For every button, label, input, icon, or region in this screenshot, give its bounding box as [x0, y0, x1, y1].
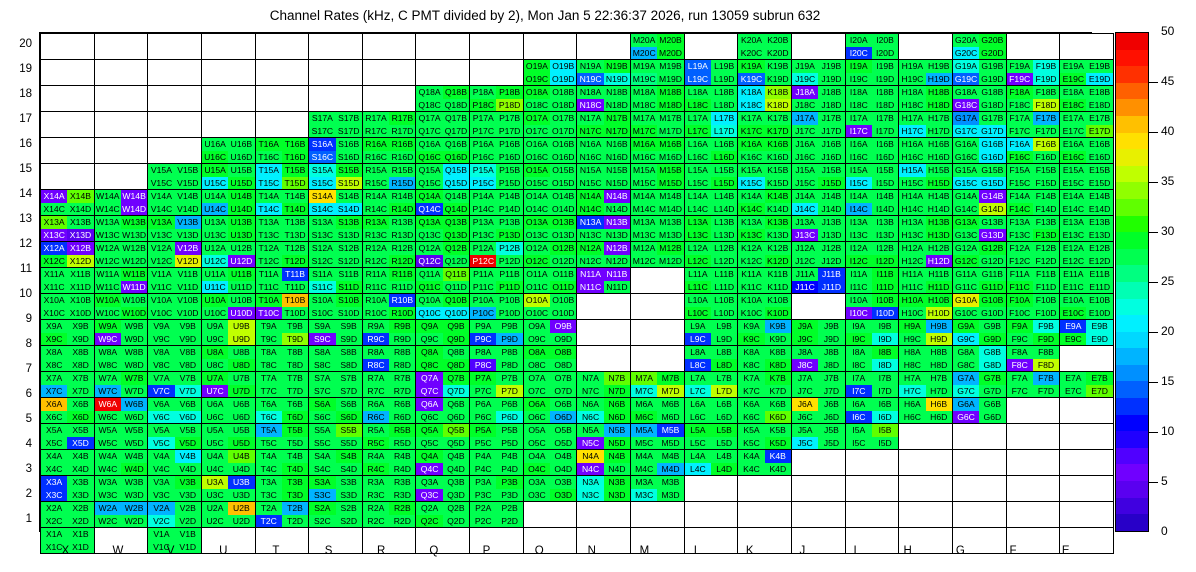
channel-O19A[interactable]: O19A: [524, 60, 550, 73]
grid-cell-H10[interactable]: H10AH10BH10CH10D: [899, 294, 953, 320]
channel-V14C[interactable]: V14C: [148, 203, 174, 216]
channel-P8D[interactable]: P8D: [496, 359, 522, 372]
grid-cell-R18[interactable]: [362, 86, 416, 112]
channel-Q4D[interactable]: Q4D: [443, 463, 469, 476]
channel-W7D[interactable]: W7D: [121, 385, 147, 398]
channel-E10D[interactable]: E10D: [1086, 307, 1112, 320]
channel-L8C[interactable]: L8C: [685, 359, 711, 372]
grid-cell-K9[interactable]: K9AK9BK9CK9D: [738, 320, 792, 346]
grid-cell-W19[interactable]: [94, 60, 148, 86]
channel-W3B[interactable]: W3B: [121, 476, 147, 489]
channel-W4B[interactable]: W4B: [121, 450, 147, 463]
channel-F14C[interactable]: F14C: [1007, 203, 1033, 216]
channel-E7D[interactable]: E7D: [1086, 385, 1112, 398]
channel-X13C[interactable]: X13C: [41, 229, 67, 242]
channel-T6C[interactable]: T6C: [256, 411, 282, 424]
grid-cell-H19[interactable]: H19AH19BH19CH19D: [899, 60, 953, 86]
channel-G8D[interactable]: G8D: [979, 359, 1005, 372]
channel-I19D[interactable]: I19D: [872, 73, 898, 86]
grid-cell-Q14[interactable]: Q14AQ14BQ14CQ14D: [416, 190, 470, 216]
grid-cell-H4[interactable]: [899, 450, 953, 476]
channel-N13C[interactable]: N13C: [577, 229, 603, 242]
channel-M6B[interactable]: M6B: [657, 398, 683, 411]
channel-X14B[interactable]: X14B: [67, 190, 93, 203]
channel-U16B[interactable]: U16B: [228, 138, 254, 151]
channel-N18D[interactable]: N18D: [604, 99, 630, 112]
channel-L4B[interactable]: L4B: [711, 450, 737, 463]
grid-cell-V9[interactable]: V9AV9BV9CV9D: [148, 320, 202, 346]
channel-X3C[interactable]: X3C: [41, 489, 67, 502]
channel-P16B[interactable]: P16B: [496, 138, 522, 151]
channel-G12C[interactable]: G12C: [953, 255, 979, 268]
channel-S4B[interactable]: S4B: [336, 450, 362, 463]
channel-U6C[interactable]: U6C: [202, 411, 228, 424]
channel-X5A[interactable]: X5A: [41, 424, 67, 437]
grid-cell-E7[interactable]: E7AE7BE7CE7D: [1060, 372, 1114, 398]
grid-cell-R8[interactable]: R8AR8BR8CR8D: [362, 346, 416, 372]
channel-T3A[interactable]: T3A: [256, 476, 282, 489]
channel-U10C[interactable]: U10C: [202, 307, 228, 320]
channel-Q7D[interactable]: Q7D: [443, 385, 469, 398]
channel-R3D[interactable]: R3D: [389, 489, 415, 502]
grid-cell-K5[interactable]: K5AK5BK5CK5D: [738, 424, 792, 450]
grid-cell-K16[interactable]: K16AK16BK16CK16D: [738, 138, 792, 164]
channel-X8B[interactable]: X8B: [67, 346, 93, 359]
grid-cell-X11[interactable]: X11AX11BX11CX11D: [41, 268, 95, 294]
channel-T10A[interactable]: T10A: [256, 294, 282, 307]
channel-J6D[interactable]: J6D: [818, 411, 844, 424]
channel-F9C[interactable]: F9C: [1007, 333, 1033, 346]
grid-cell-I16[interactable]: I16AI16BI16CI16D: [845, 138, 899, 164]
channel-T16B[interactable]: T16B: [282, 138, 308, 151]
channel-M14D[interactable]: M14D: [657, 203, 683, 216]
channel-N3A[interactable]: N3A: [577, 476, 603, 489]
channel-O12A[interactable]: O12A: [524, 242, 550, 255]
channel-W4D[interactable]: W4D: [121, 463, 147, 476]
channel-X3B[interactable]: X3B: [67, 476, 93, 489]
grid-cell-R2[interactable]: R2AR2BR2CR2D: [362, 502, 416, 528]
grid-cell-F18[interactable]: F18AF18BF18CF18D: [1006, 86, 1060, 112]
channel-M3C[interactable]: M3C: [631, 489, 657, 502]
channel-I8C[interactable]: I8C: [846, 359, 872, 372]
channel-J5D[interactable]: J5D: [818, 437, 844, 450]
channel-H18A[interactable]: H18A: [899, 86, 925, 99]
grid-cell-G14[interactable]: G14AG14BG14CG14D: [952, 190, 1006, 216]
grid-cell-S16[interactable]: S16AS16BS16CS16D: [309, 138, 363, 164]
grid-cell-N8[interactable]: [577, 346, 631, 372]
grid-cell-L7[interactable]: L7AL7BL7CL7D: [684, 372, 738, 398]
channel-P13B[interactable]: P13B: [496, 216, 522, 229]
grid-cell-O16[interactable]: O16AO16BO16CO16D: [523, 138, 577, 164]
channel-H10D[interactable]: H10D: [926, 307, 952, 320]
channel-R5A[interactable]: R5A: [363, 424, 389, 437]
channel-L11B[interactable]: L11B: [711, 268, 737, 281]
channel-K13C[interactable]: K13C: [738, 229, 764, 242]
channel-P15C[interactable]: P15C: [470, 177, 496, 190]
channel-S14A[interactable]: S14A: [309, 190, 335, 203]
channel-R16A[interactable]: R16A: [363, 138, 389, 151]
grid-cell-M15[interactable]: M15AM15BM15CM15D: [631, 164, 685, 190]
grid-cell-V10[interactable]: V10AV10BV10CV10D: [148, 294, 202, 320]
channel-M18C[interactable]: M18C: [631, 99, 657, 112]
channel-P12D[interactable]: P12D: [496, 255, 522, 268]
channel-E19D[interactable]: E19D: [1086, 73, 1112, 86]
grid-cell-E13[interactable]: E13AE13BE13CE13D: [1060, 216, 1114, 242]
grid-cell-W15[interactable]: [94, 164, 148, 190]
channel-U6D[interactable]: U6D: [228, 411, 254, 424]
channel-R4D[interactable]: R4D: [389, 463, 415, 476]
grid-cell-Q7[interactable]: Q7AQ7BQ7CQ7D: [416, 372, 470, 398]
channel-V9B[interactable]: V9B: [175, 320, 201, 333]
grid-cell-S7[interactable]: S7AS7BS7CS7D: [309, 372, 363, 398]
channel-P8C[interactable]: P8C: [470, 359, 496, 372]
channel-N11A[interactable]: N11A: [577, 268, 603, 281]
grid-cell-W14[interactable]: W14AW14BW14CW14D: [94, 190, 148, 216]
channel-N7A[interactable]: N7A: [577, 372, 603, 385]
channel-K6B[interactable]: K6B: [765, 398, 791, 411]
channel-G18A[interactable]: G18A: [953, 86, 979, 99]
channel-G18C[interactable]: G18C: [953, 99, 979, 112]
channel-I5D[interactable]: I5D: [872, 437, 898, 450]
channel-S5D[interactable]: S5D: [336, 437, 362, 450]
grid-cell-T2[interactable]: T2AT2BT2CT2D: [255, 502, 309, 528]
channel-W10D[interactable]: W10D: [121, 307, 147, 320]
grid-cell-Q17[interactable]: Q17AQ17BQ17CQ17D: [416, 112, 470, 138]
grid-cell-N20[interactable]: [577, 34, 631, 60]
grid-cell-S4[interactable]: S4AS4BS4CS4D: [309, 450, 363, 476]
grid-cell-N13[interactable]: N13AN13BN13CN13D: [577, 216, 631, 242]
grid-cell-S19[interactable]: [309, 60, 363, 86]
channel-H11B[interactable]: H11B: [926, 268, 952, 281]
channel-S12C[interactable]: S12C: [309, 255, 335, 268]
channel-N12C[interactable]: N12C: [577, 255, 603, 268]
channel-T16C[interactable]: T16C: [256, 151, 282, 164]
grid-cell-U11[interactable]: U11AU11BU11CU11D: [201, 268, 255, 294]
grid-cell-E12[interactable]: E12AE12BE12CE12D: [1060, 242, 1114, 268]
channel-R9A[interactable]: R9A: [363, 320, 389, 333]
channel-G7D[interactable]: G7D: [979, 385, 1005, 398]
channel-X10D[interactable]: X10D: [67, 307, 93, 320]
channel-N5B[interactable]: N5B: [604, 424, 630, 437]
channel-H6D[interactable]: H6D: [926, 411, 952, 424]
channel-J18D[interactable]: J18D: [818, 99, 844, 112]
channel-T15A[interactable]: T15A: [256, 164, 282, 177]
channel-M13B[interactable]: M13B: [657, 216, 683, 229]
grid-cell-X3[interactable]: X3AX3BX3CX3D: [41, 476, 95, 502]
channel-K19A[interactable]: K19A: [738, 60, 764, 73]
grid-cell-H11[interactable]: H11AH11BH11CH11D: [899, 268, 953, 294]
channel-T6A[interactable]: T6A: [256, 398, 282, 411]
channel-H12A[interactable]: H12A: [899, 242, 925, 255]
grid-cell-Q6[interactable]: Q6AQ6BQ6CQ6D: [416, 398, 470, 424]
channel-F11A[interactable]: F11A: [1007, 268, 1033, 281]
grid-cell-T19[interactable]: [255, 60, 309, 86]
channel-H6B[interactable]: H6B: [926, 398, 952, 411]
channel-R8B[interactable]: R8B: [389, 346, 415, 359]
grid-cell-K3[interactable]: [738, 476, 792, 502]
grid-cell-N12[interactable]: N12AN12BN12CN12D: [577, 242, 631, 268]
channel-T11A[interactable]: T11A: [256, 268, 282, 281]
channel-P7D[interactable]: P7D: [496, 385, 522, 398]
channel-R17D[interactable]: R17D: [389, 125, 415, 138]
grid-cell-E16[interactable]: E16AE16BE16CE16D: [1060, 138, 1114, 164]
channel-H13B[interactable]: H13B: [926, 216, 952, 229]
channel-R4A[interactable]: R4A: [363, 450, 389, 463]
channel-U14B[interactable]: U14B: [228, 190, 254, 203]
grid-cell-G15[interactable]: G15AG15BG15CG15D: [952, 164, 1006, 190]
channel-K10B[interactable]: K10B: [765, 294, 791, 307]
grid-cell-Q9[interactable]: Q9AQ9BQ9CQ9D: [416, 320, 470, 346]
channel-G6B[interactable]: G6B: [979, 398, 1005, 411]
grid-cell-F17[interactable]: F17AF17BF17CF17D: [1006, 112, 1060, 138]
channel-E12C[interactable]: E12C: [1060, 255, 1086, 268]
channel-F11D[interactable]: F11D: [1033, 281, 1059, 294]
channel-G19D[interactable]: G19D: [979, 73, 1005, 86]
channel-L14C[interactable]: L14C: [685, 203, 711, 216]
channel-W10B[interactable]: W10B: [121, 294, 147, 307]
channel-W6B[interactable]: W6B: [121, 398, 147, 411]
grid-cell-W11[interactable]: W11AW11BW11CW11D: [94, 268, 148, 294]
channel-G10C[interactable]: G10C: [953, 307, 979, 320]
channel-K7A[interactable]: K7A: [738, 372, 764, 385]
channel-N6D[interactable]: N6D: [604, 411, 630, 424]
channel-L4A[interactable]: L4A: [685, 450, 711, 463]
grid-cell-G12[interactable]: G12AG12BG12CG12D: [952, 242, 1006, 268]
channel-X5C[interactable]: X5C: [41, 437, 67, 450]
channel-S2A[interactable]: S2A: [309, 502, 335, 515]
channel-X2B[interactable]: X2B: [67, 502, 93, 515]
channel-F14D[interactable]: F14D: [1033, 203, 1059, 216]
channel-G12B[interactable]: G12B: [979, 242, 1005, 255]
grid-cell-F11[interactable]: F11AF11BF11CF11D: [1006, 268, 1060, 294]
channel-G15C[interactable]: G15C: [953, 177, 979, 190]
channel-V13A[interactable]: V13A: [148, 216, 174, 229]
channel-S13C[interactable]: S13C: [309, 229, 335, 242]
channel-N19A[interactable]: N19A: [577, 60, 603, 73]
channel-P13C[interactable]: P13C: [470, 229, 496, 242]
channel-K14B[interactable]: K14B: [765, 190, 791, 203]
channel-S9C[interactable]: S9C: [309, 333, 335, 346]
channel-P13A[interactable]: P13A: [470, 216, 496, 229]
channel-I10A[interactable]: I10A: [846, 294, 872, 307]
channel-G17A[interactable]: G17A: [953, 112, 979, 125]
channel-Q2A[interactable]: Q2A: [416, 502, 442, 515]
channel-Q2C[interactable]: Q2C: [416, 515, 442, 528]
channel-T11D[interactable]: T11D: [282, 281, 308, 294]
channel-O11A[interactable]: O11A: [524, 268, 550, 281]
grid-cell-G4[interactable]: [952, 450, 1006, 476]
channel-E17D[interactable]: E17D: [1086, 125, 1112, 138]
grid-cell-L17[interactable]: L17AL17BL17CL17D: [684, 112, 738, 138]
channel-H15C[interactable]: H15C: [899, 177, 925, 190]
grid-cell-J13[interactable]: J13AJ13BJ13CJ13D: [791, 216, 845, 242]
channel-E19A[interactable]: E19A: [1060, 60, 1086, 73]
channel-H16D[interactable]: H16D: [926, 151, 952, 164]
channel-N6C[interactable]: N6C: [577, 411, 603, 424]
grid-cell-I7[interactable]: I7AI7BI7CI7D: [845, 372, 899, 398]
channel-N13A[interactable]: N13A: [577, 216, 603, 229]
channel-T14B[interactable]: T14B: [282, 190, 308, 203]
grid-cell-P16[interactable]: P16AP16BP16CP16D: [470, 138, 524, 164]
channel-U12C[interactable]: U12C: [202, 255, 228, 268]
channel-I18B[interactable]: I18B: [872, 86, 898, 99]
channel-L9B[interactable]: L9B: [711, 320, 737, 333]
channel-J17B[interactable]: J17B: [818, 112, 844, 125]
channel-V2C[interactable]: V2C: [148, 515, 174, 528]
channel-P4A[interactable]: P4A: [470, 450, 496, 463]
channel-M13A[interactable]: M13A: [631, 216, 657, 229]
channel-S13A[interactable]: S13A: [309, 216, 335, 229]
channel-L11D[interactable]: L11D: [711, 281, 737, 294]
channel-X5D[interactable]: X5D: [67, 437, 93, 450]
channel-I20B[interactable]: I20B: [872, 34, 898, 47]
channel-T5B[interactable]: T5B: [282, 424, 308, 437]
channel-X8A[interactable]: X8A: [41, 346, 67, 359]
grid-cell-L5[interactable]: L5AL5BL5CL5D: [684, 424, 738, 450]
grid-cell-P12[interactable]: P12AP12BP12CP12D: [470, 242, 524, 268]
channel-R6D[interactable]: R6D: [389, 411, 415, 424]
channel-G18B[interactable]: G18B: [979, 86, 1005, 99]
channel-W8B[interactable]: W8B: [121, 346, 147, 359]
channel-H8B[interactable]: H8B: [926, 346, 952, 359]
channel-S4A[interactable]: S4A: [309, 450, 335, 463]
channel-P15A[interactable]: P15A: [470, 164, 496, 177]
grid-cell-S8[interactable]: S8AS8BS8CS8D: [309, 346, 363, 372]
channel-T6D[interactable]: T6D: [282, 411, 308, 424]
channel-R5B[interactable]: R5B: [389, 424, 415, 437]
channel-V7B[interactable]: V7B: [175, 372, 201, 385]
grid-cell-T16[interactable]: T16AT16BT16CT16D: [255, 138, 309, 164]
grid-cell-T6[interactable]: T6AT6BT6CT6D: [255, 398, 309, 424]
channel-V7D[interactable]: V7D: [175, 385, 201, 398]
grid-cell-K8[interactable]: K8AK8BK8CK8D: [738, 346, 792, 372]
channel-P16D[interactable]: P16D: [496, 151, 522, 164]
channel-O7D[interactable]: O7D: [550, 385, 576, 398]
channel-R10A[interactable]: R10A: [363, 294, 389, 307]
channel-O7B[interactable]: O7B: [550, 372, 576, 385]
grid-cell-N17[interactable]: N17AN17BN17CN17D: [577, 112, 631, 138]
channel-H18C[interactable]: H18C: [899, 99, 925, 112]
channel-N11C[interactable]: N11C: [577, 281, 603, 294]
channel-Q5D[interactable]: Q5D: [443, 437, 469, 450]
grid-cell-X16[interactable]: [41, 138, 95, 164]
channel-I17B[interactable]: I17B: [872, 112, 898, 125]
channel-S3C[interactable]: S3C: [309, 489, 335, 502]
channel-K19C[interactable]: K19C: [738, 73, 764, 86]
channel-M3B[interactable]: M3B: [657, 476, 683, 489]
channel-L7C[interactable]: L7C: [685, 385, 711, 398]
grid-cell-T20[interactable]: [255, 34, 309, 60]
channel-W14C[interactable]: W14C: [95, 203, 121, 216]
channel-U14A[interactable]: U14A: [202, 190, 228, 203]
channel-J5B[interactable]: J5B: [818, 424, 844, 437]
grid-cell-L12[interactable]: L12AL12BL12CL12D: [684, 242, 738, 268]
channel-S9B[interactable]: S9B: [336, 320, 362, 333]
channel-H8D[interactable]: H8D: [926, 359, 952, 372]
channel-K8C[interactable]: K8C: [738, 359, 764, 372]
grid-cell-P14[interactable]: P14AP14BP14CP14D: [470, 190, 524, 216]
channel-T8A[interactable]: T8A: [256, 346, 282, 359]
grid-cell-L9[interactable]: L9AL9BL9CL9D: [684, 320, 738, 346]
channel-U9B[interactable]: U9B: [228, 320, 254, 333]
channel-U4C[interactable]: U4C: [202, 463, 228, 476]
grid-cell-P11[interactable]: P11AP11BP11CP11D: [470, 268, 524, 294]
channel-K13A[interactable]: K13A: [738, 216, 764, 229]
channel-K4A[interactable]: K4A: [738, 450, 764, 463]
channel-O6B[interactable]: O6B: [550, 398, 576, 411]
channel-P12C[interactable]: P12C: [470, 255, 496, 268]
channel-G19A[interactable]: G19A: [953, 60, 979, 73]
channel-G16A[interactable]: G16A: [953, 138, 979, 151]
channel-U13D[interactable]: U13D: [228, 229, 254, 242]
channel-E14B[interactable]: E14B: [1086, 190, 1112, 203]
channel-E16C[interactable]: E16C: [1060, 151, 1086, 164]
channel-P14A[interactable]: P14A: [470, 190, 496, 203]
channel-O14B[interactable]: O14B: [550, 190, 576, 203]
channel-U6B[interactable]: U6B: [228, 398, 254, 411]
channel-Q18D[interactable]: Q18D: [443, 99, 469, 112]
channel-F13A[interactable]: F13A: [1007, 216, 1033, 229]
grid-cell-K18[interactable]: K18AK18BK18CK18D: [738, 86, 792, 112]
channel-V4C[interactable]: V4C: [148, 463, 174, 476]
channel-L6A[interactable]: L6A: [685, 398, 711, 411]
channel-P10A[interactable]: P10A: [470, 294, 496, 307]
channel-T14D[interactable]: T14D: [282, 203, 308, 216]
channel-W3A[interactable]: W3A: [95, 476, 121, 489]
channel-T8B[interactable]: T8B: [282, 346, 308, 359]
grid-cell-G19[interactable]: G19AG19BG19CG19D: [952, 60, 1006, 86]
grid-cell-P8[interactable]: P8AP8BP8CP8D: [470, 346, 524, 372]
grid-cell-G5[interactable]: [952, 424, 1006, 450]
channel-J12A[interactable]: J12A: [792, 242, 818, 255]
channel-O17B[interactable]: O17B: [550, 112, 576, 125]
grid-cell-R12[interactable]: R12AR12BR12CR12D: [362, 242, 416, 268]
channel-K11C[interactable]: K11C: [738, 281, 764, 294]
grid-cell-T11[interactable]: T11AT11BT11CT11D: [255, 268, 309, 294]
channel-Q18B[interactable]: Q18B: [443, 86, 469, 99]
grid-cell-O3[interactable]: O3AO3BO3CO3D: [523, 476, 577, 502]
grid-cell-J10[interactable]: [791, 294, 845, 320]
channel-V8B[interactable]: V8B: [175, 346, 201, 359]
grid-cell-O14[interactable]: O14AO14BO14CO14D: [523, 190, 577, 216]
channel-J16A[interactable]: J16A: [792, 138, 818, 151]
channel-P17A[interactable]: P17A: [470, 112, 496, 125]
channel-M15C[interactable]: M15C: [631, 177, 657, 190]
channel-M7C[interactable]: M7C: [631, 385, 657, 398]
grid-cell-G20[interactable]: G20AG20BG20CG20D: [952, 34, 1006, 60]
channel-P2A[interactable]: P2A: [470, 502, 496, 515]
channel-R15C[interactable]: R15C: [363, 177, 389, 190]
channel-Q15D[interactable]: Q15D: [443, 177, 469, 190]
channel-R2D[interactable]: R2D: [389, 515, 415, 528]
channel-H15A[interactable]: H15A: [899, 164, 925, 177]
channel-X2C[interactable]: X2C: [41, 515, 67, 528]
grid-cell-M13[interactable]: M13AM13BM13CM13D: [631, 216, 685, 242]
channel-T14A[interactable]: T14A: [256, 190, 282, 203]
channel-M3D[interactable]: M3D: [657, 489, 683, 502]
channel-L7D[interactable]: L7D: [711, 385, 737, 398]
grid-cell-S14[interactable]: S14AS14BS14CS14D: [309, 190, 363, 216]
channel-X13B[interactable]: X13B: [67, 216, 93, 229]
channel-K16C[interactable]: K16C: [738, 151, 764, 164]
channel-G11B[interactable]: G11B: [979, 268, 1005, 281]
grid-cell-V4[interactable]: V4AV4BV4CV4D: [148, 450, 202, 476]
channel-J5C[interactable]: J5C: [792, 437, 818, 450]
channel-O15B[interactable]: O15B: [550, 164, 576, 177]
grid-cell-I11[interactable]: I11AI11BI11CI11D: [845, 268, 899, 294]
channel-F15A[interactable]: F15A: [1007, 164, 1033, 177]
channel-F17A[interactable]: F17A: [1007, 112, 1033, 125]
